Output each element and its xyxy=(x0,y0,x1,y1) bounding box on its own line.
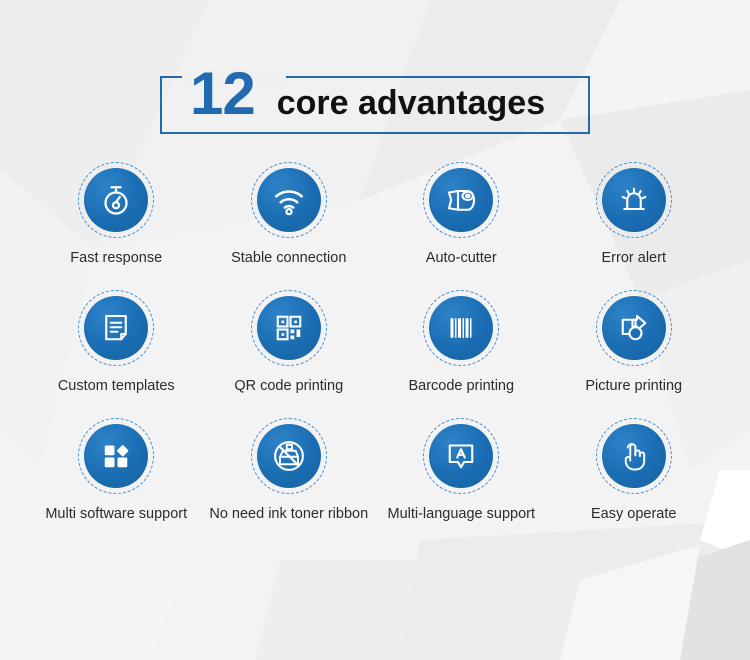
page-title-text: core advantages xyxy=(277,86,545,120)
qr-code-icon xyxy=(271,310,307,346)
language-bubble-icon xyxy=(443,438,479,474)
badge xyxy=(84,296,148,360)
badge xyxy=(429,168,493,232)
advantage-label: Fast response xyxy=(70,248,162,269)
advantage-label: QR code printing xyxy=(234,376,343,397)
document-icon xyxy=(98,310,134,346)
advantages-grid: Fast response Stable connection xyxy=(30,168,720,552)
advantage-label: Easy operate xyxy=(591,504,676,525)
badge xyxy=(257,296,321,360)
badge xyxy=(257,424,321,488)
advantage-item-barcode-printing[interactable]: Barcode printing xyxy=(375,296,548,424)
advantage-label: Stable connection xyxy=(231,248,346,269)
badge xyxy=(602,168,666,232)
badge xyxy=(602,296,666,360)
wifi-icon xyxy=(271,182,307,218)
advantage-label: Custom templates xyxy=(58,376,175,397)
badge xyxy=(257,168,321,232)
advantage-count: 12 xyxy=(190,64,255,124)
no-ink-icon xyxy=(271,438,307,474)
advantage-item-multi-software-support[interactable]: Multi software support xyxy=(30,424,203,552)
badge xyxy=(429,296,493,360)
barcode-icon xyxy=(443,310,479,346)
page-title: 12 core advantages xyxy=(160,62,590,134)
advantage-item-easy-operate[interactable]: Easy operate xyxy=(548,424,721,552)
app-tiles-icon xyxy=(98,438,134,474)
advantage-label: Barcode printing xyxy=(408,376,514,397)
advantage-item-no-need-ink[interactable]: No need ink toner ribbon xyxy=(203,424,376,552)
advantage-item-fast-response[interactable]: Fast response xyxy=(30,168,203,296)
advantage-item-multi-language-support[interactable]: Multi-language support xyxy=(375,424,548,552)
advantage-label: Multi-language support xyxy=(387,504,535,525)
advantage-item-picture-printing[interactable]: Picture printing xyxy=(548,296,721,424)
paper-roll-icon xyxy=(443,182,479,218)
alarm-light-icon xyxy=(616,182,652,218)
advantage-item-stable-connection[interactable]: Stable connection xyxy=(203,168,376,296)
stopwatch-icon xyxy=(98,182,134,218)
advantage-item-auto-cutter[interactable]: Auto-cutter xyxy=(375,168,548,296)
advantage-label: Error alert xyxy=(602,248,666,269)
badge xyxy=(84,168,148,232)
tap-hand-icon xyxy=(616,438,652,474)
advantage-label: Picture printing xyxy=(585,376,682,397)
advantage-item-custom-templates[interactable]: Custom templates xyxy=(30,296,203,424)
badge xyxy=(84,424,148,488)
advantage-label: Auto-cutter xyxy=(426,248,497,269)
badge xyxy=(429,424,493,488)
badge xyxy=(602,424,666,488)
advantage-item-qr-code-printing[interactable]: QR code printing xyxy=(203,296,376,424)
advantage-label: Multi software support xyxy=(45,504,187,525)
picture-share-icon xyxy=(616,310,652,346)
advantage-label: No need ink toner ribbon xyxy=(209,504,368,525)
advantage-item-error-alert[interactable]: Error alert xyxy=(548,168,721,296)
